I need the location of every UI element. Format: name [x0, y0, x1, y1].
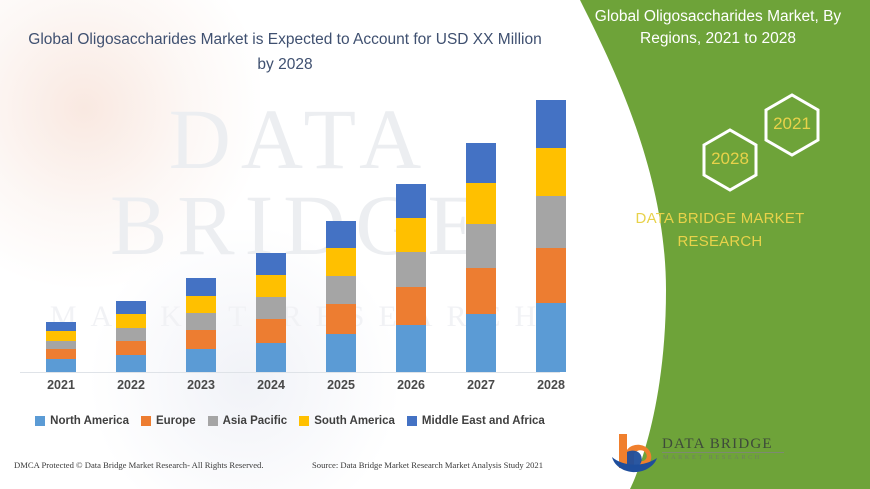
chart-title: Global Oligosaccharides Market is Expect… [20, 28, 550, 78]
bar-segment [326, 276, 356, 304]
bar-segment [186, 330, 216, 349]
bar-segment [326, 248, 356, 275]
bar-segment [466, 268, 496, 314]
x-label-2025: 2025 [311, 378, 371, 392]
legend-swatch-icon [35, 416, 45, 426]
bar-segment [256, 275, 286, 297]
bar-2022 [116, 301, 146, 372]
legend-item[interactable]: Asia Pacific [208, 415, 288, 427]
bar-segment [116, 355, 146, 372]
bar-2025 [326, 221, 356, 372]
x-label-2026: 2026 [381, 378, 441, 392]
bar-segment [46, 349, 76, 359]
legend-swatch-icon [141, 416, 151, 426]
bar-segment [46, 322, 76, 331]
bar-2026 [396, 184, 426, 372]
brand-line-1: DATA BRIDGE MARKET [570, 208, 870, 231]
bar-segment [396, 287, 426, 325]
x-label-2021: 2021 [31, 378, 91, 392]
bar-segment [466, 183, 496, 224]
logo-subtitle: MARKET RESEARCH [663, 454, 762, 461]
x-label-2022: 2022 [101, 378, 161, 392]
bar-segment [256, 343, 286, 372]
chart-x-axis-labels: 20212022202320242025202620272028 [20, 378, 580, 400]
bar-segment [466, 314, 496, 372]
legend-item[interactable]: North America [35, 415, 129, 427]
bar-segment [536, 248, 566, 302]
legend-item[interactable]: Europe [141, 415, 196, 427]
bar-2028 [536, 100, 566, 372]
bar-segment [46, 359, 76, 372]
bar-segment [256, 297, 286, 319]
bar-2024 [256, 253, 286, 372]
logo-underline [662, 452, 784, 453]
chart-area: Global Oligosaccharides Market is Expect… [0, 0, 600, 420]
hexagon-2021-label: 2021 [746, 114, 838, 134]
bar-segment [466, 143, 496, 184]
logo-mark-icon [610, 430, 662, 474]
x-label-2024: 2024 [241, 378, 301, 392]
bar-segment [536, 100, 566, 148]
bar-2021 [46, 322, 76, 372]
bar-segment [116, 301, 146, 315]
bar-segment [256, 253, 286, 275]
bar-segment [116, 341, 146, 356]
legend-label: Europe [156, 415, 196, 427]
legend-item[interactable]: South America [299, 415, 395, 427]
bar-segment [326, 304, 356, 334]
bar-2023 [186, 278, 216, 372]
footer-copyright: DMCA Protected © Data Bridge Market Rese… [14, 460, 264, 470]
legend-label: Middle East and Africa [422, 415, 545, 427]
bar-2027 [466, 143, 496, 372]
footer: DMCA Protected © Data Bridge Market Rese… [0, 458, 600, 482]
bar-segment [186, 313, 216, 330]
footer-source: Source: Data Bridge Market Research Mark… [312, 460, 543, 470]
bar-segment [46, 341, 76, 349]
brand-line-2: RESEARCH [570, 231, 870, 254]
legend-swatch-icon [208, 416, 218, 426]
bar-segment [186, 349, 216, 372]
data-bridge-logo: DATA BRIDGE MARKET RESEARCH [610, 430, 790, 478]
legend-label: Asia Pacific [223, 415, 288, 427]
bar-segment [186, 296, 216, 314]
legend-label: North America [50, 415, 129, 427]
hexagon-2028-label: 2028 [684, 149, 776, 169]
legend-swatch-icon [407, 416, 417, 426]
green-panel-brand: DATA BRIDGE MARKET RESEARCH [570, 208, 870, 253]
bar-segment [116, 314, 146, 328]
bar-segment [326, 334, 356, 372]
legend-label: South America [314, 415, 395, 427]
bar-segment [466, 224, 496, 268]
infographic-root: DATA BRIDGE MARKET RESEARCH Global Oligo… [0, 0, 870, 489]
bar-segment [396, 218, 426, 252]
bar-segment [536, 196, 566, 248]
chart-x-axis [20, 372, 560, 373]
legend-swatch-icon [299, 416, 309, 426]
bar-segment [536, 148, 566, 196]
x-label-2027: 2027 [451, 378, 511, 392]
bar-segment [326, 221, 356, 248]
bar-segment [396, 184, 426, 218]
chart-legend: North AmericaEuropeAsia PacificSouth Ame… [0, 415, 580, 427]
legend-item[interactable]: Middle East and Africa [407, 415, 545, 427]
bar-segment [46, 331, 76, 340]
bar-segment [186, 278, 216, 296]
logo-wordmark: DATA BRIDGE [662, 436, 773, 453]
bar-segment [536, 303, 566, 372]
chart-plot [20, 110, 580, 372]
bar-segment [256, 319, 286, 343]
bar-segment [396, 252, 426, 288]
bar-segment [396, 325, 426, 372]
bar-segment [116, 328, 146, 341]
x-label-2023: 2023 [171, 378, 231, 392]
